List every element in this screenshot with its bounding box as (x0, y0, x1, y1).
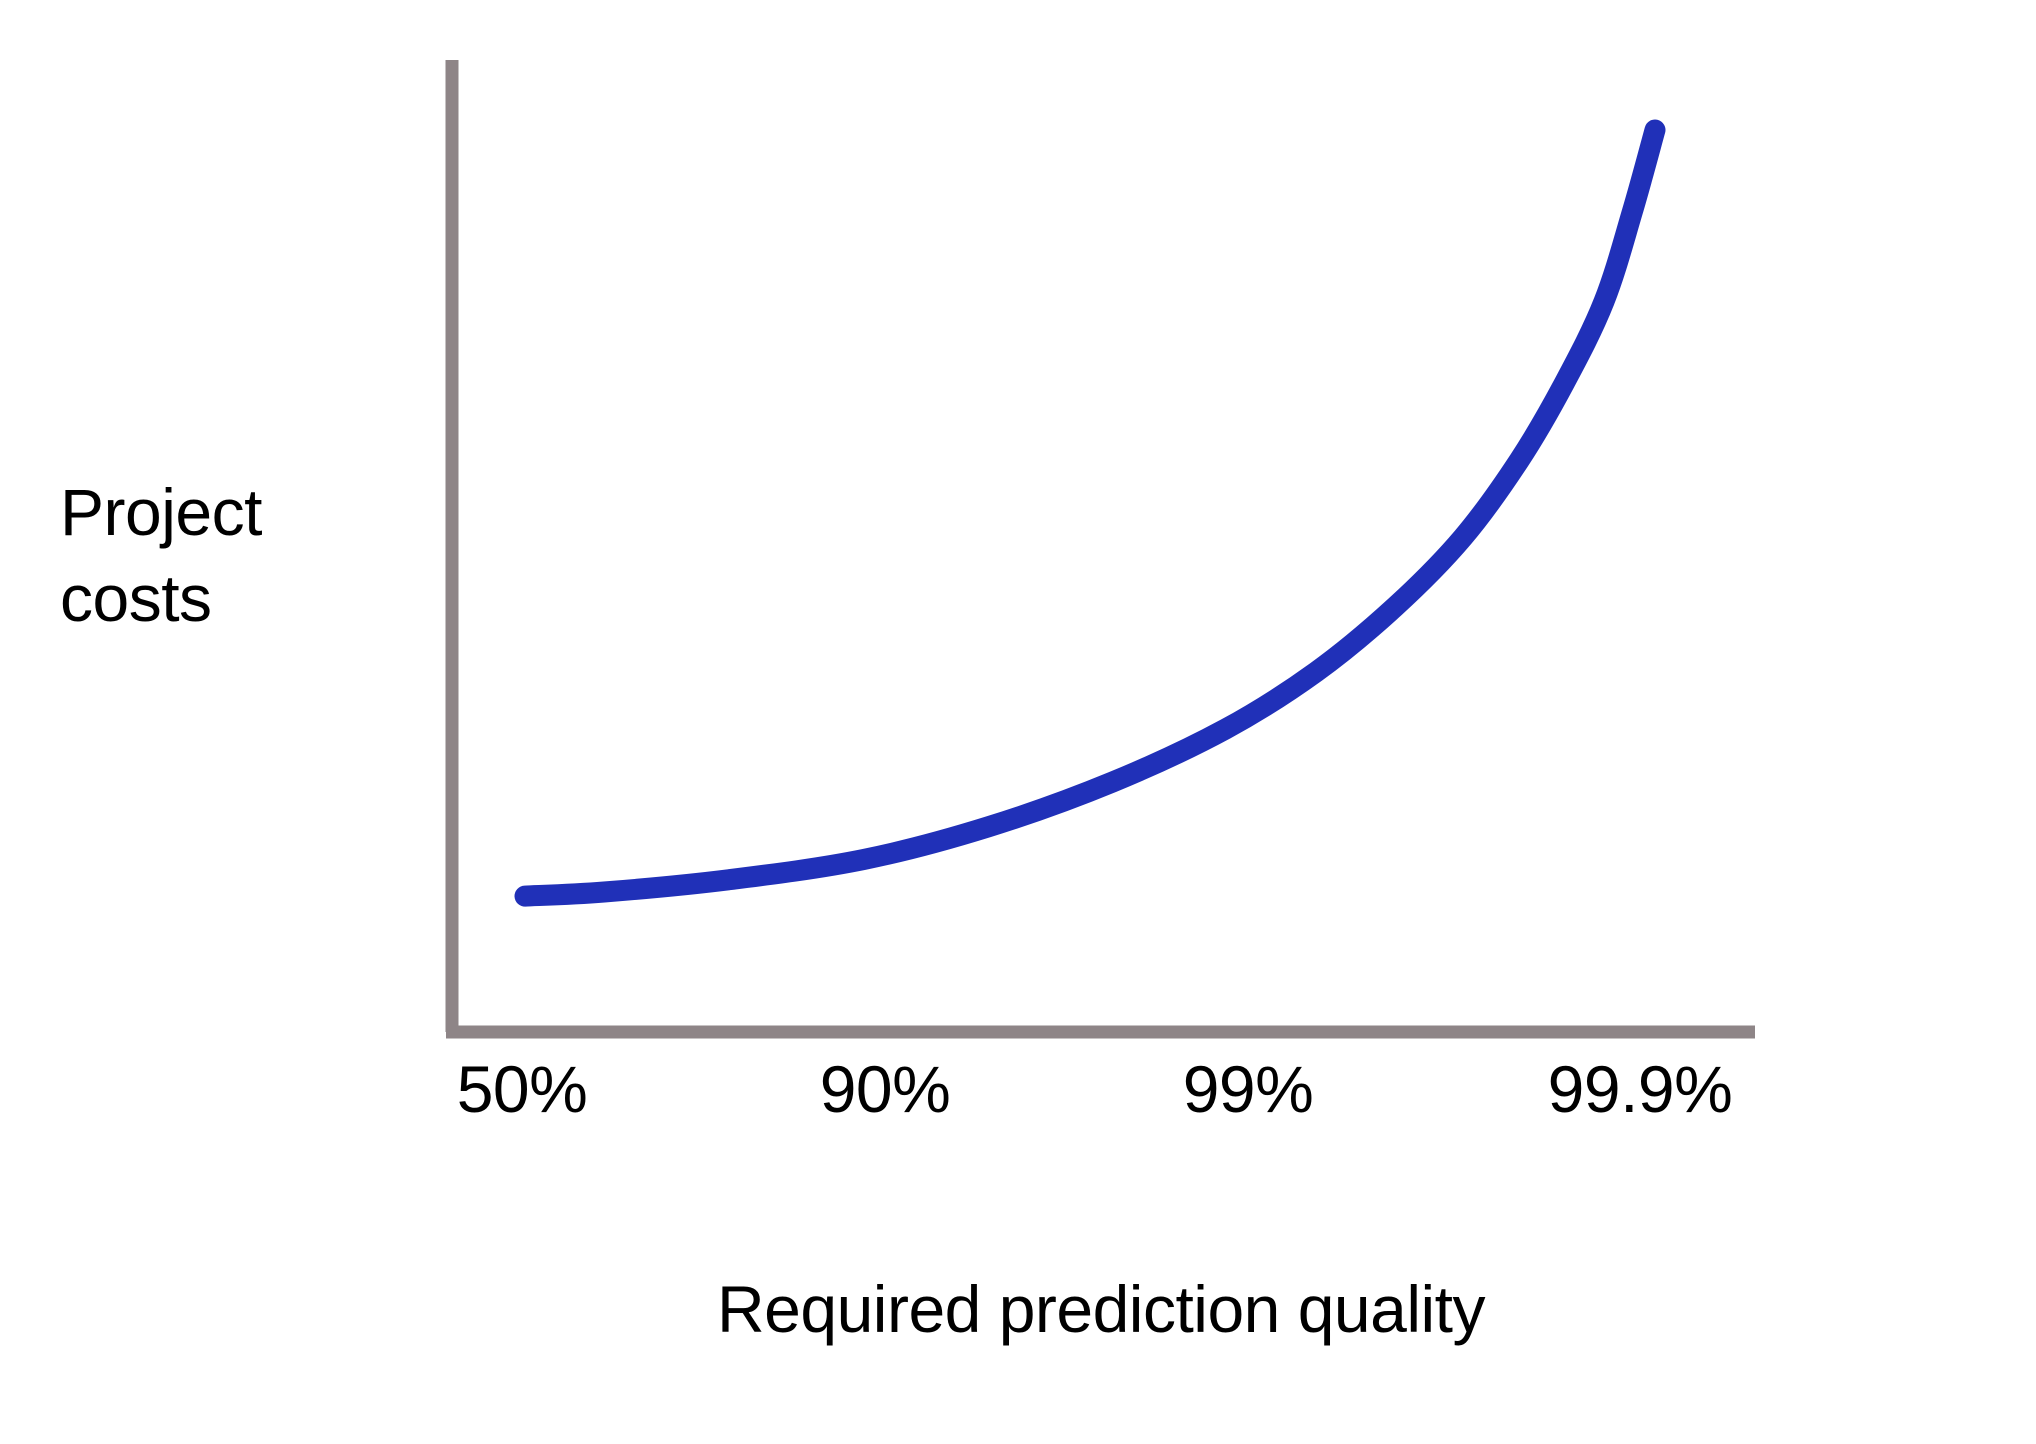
x-axis-title: Required prediction quality (446, 1272, 1756, 1348)
cost-curve-line (525, 130, 1655, 896)
x-tick-label-3: 99.9% (1548, 1052, 1733, 1128)
x-tick-label-1: 90% (820, 1052, 951, 1128)
chart-figure: Project costs 50% 90% 99% 99.9% Required… (0, 0, 2036, 1444)
x-tick-label-2: 99% (1183, 1052, 1314, 1128)
x-tick-labels: 50% 90% 99% 99.9% (446, 1052, 1756, 1142)
plot-area (0, 0, 2036, 1444)
x-tick-label-0: 50% (457, 1052, 588, 1128)
